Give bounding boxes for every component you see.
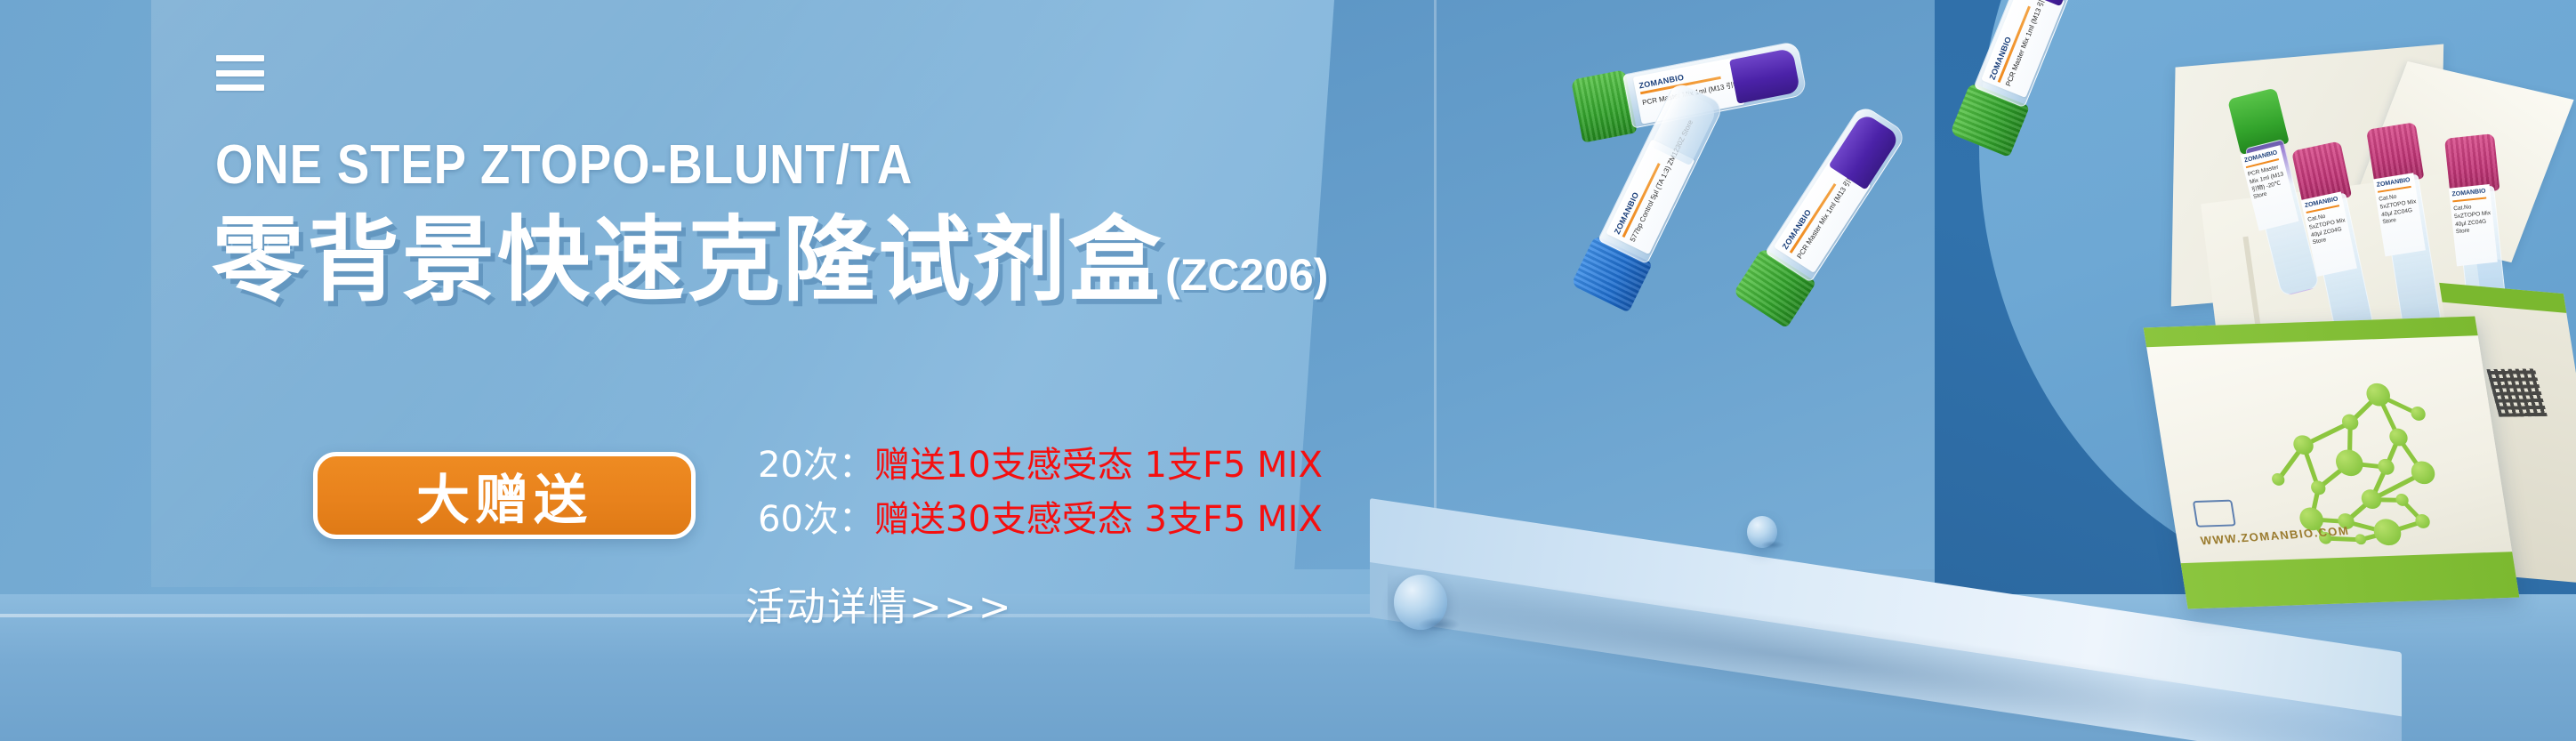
molecule-node (2410, 407, 2427, 421)
vial-body: ZOMANBIO PCR Master Mix 1ml (M13 引物) -20… (1765, 103, 1908, 283)
kit-front-green-band (2162, 551, 2519, 608)
menu-bar-2 (216, 70, 264, 77)
page-title: 零背景快速克隆试剂盒 (212, 213, 1163, 306)
headline-row: 零背景快速克隆试剂盒 (ZC206) (212, 213, 1328, 306)
activity-details-link[interactable]: 活动详情>>> (745, 575, 1013, 632)
vial-label-text: Cat.No 5xZTOPO Mix 40μl ZC04G Store (2379, 190, 2421, 227)
zomanbio-logo-icon (2193, 500, 2236, 528)
vial-label-text: PCR Master Mix 1ml (M13 引物) -20℃ Store (2247, 163, 2291, 202)
banner-content: ONE STEP ZTOPO-BLUNT/TA 零背景快速克隆试剂盒 (ZC20… (0, 0, 1477, 741)
gift-promo-button[interactable]: 大赠送 (313, 452, 696, 539)
molecule-node (2414, 514, 2431, 528)
vial-label-stripe (2452, 197, 2486, 202)
gift-promo-button-label: 大赠送 (416, 457, 592, 535)
hamburger-menu-icon[interactable] (216, 55, 264, 91)
molecule-graphic-icon (2230, 376, 2452, 542)
product-code: (ZC206) (1165, 249, 1328, 306)
product-photo: ZOMANBIO PCR Master Mix 1ml (M13 引物) -20… (1548, 27, 2576, 614)
promo-banner: ONE STEP ZTOPO-BLUNT/TA 零背景快速克隆试剂盒 (ZC20… (0, 0, 2576, 741)
offer-item: 60次：赠送30支感受态 3支F5 MIX (758, 499, 1323, 541)
kit-front-top-band (2144, 316, 2505, 347)
offer-list: 20次：赠送10支感受态 1支F5 MIX 60次：赠送30支感受态 3支F5 … (758, 445, 1323, 541)
offer-count: 20次： (758, 445, 874, 486)
offer-reward: 赠送10支感受态 1支F5 MIX (874, 445, 1323, 486)
offer-item: 20次：赠送10支感受态 1支F5 MIX (758, 445, 1323, 487)
molecule-node (2372, 519, 2403, 546)
vial-label: ZOMANBIO Cat.No 5xZTOPO Mix 40μl ZC04G S… (2449, 184, 2498, 266)
qr-code-icon (2486, 368, 2547, 416)
reagent-kit-box: ZOMANBIO PCR Master Mix 1ml (M13 引物) -20… (2081, 53, 2576, 587)
menu-bar-3 (216, 85, 264, 91)
menu-bar-1 (216, 55, 264, 61)
vial-liquid (1729, 48, 1800, 104)
offer-count: 60次： (758, 499, 874, 540)
vial-brand: ZOMANBIO (2451, 188, 2486, 197)
molecule-node (2410, 461, 2436, 485)
offer-reward: 赠送30支感受态 3支F5 MIX (874, 499, 1323, 540)
product-eyebrow-title: ONE STEP ZTOPO-BLUNT/TA (215, 133, 913, 197)
vial-label-text: Cat.No 5xZTOPO Mix 40μl ZC04G Store (2453, 202, 2494, 237)
vial-label-text: Cat.No 5xZTOPO Mix 40μl ZC04G Store (2307, 209, 2351, 247)
molecule-node (2377, 459, 2395, 475)
kit-front-panel: WWW.ZOMANBIO.COM (2144, 316, 2520, 608)
